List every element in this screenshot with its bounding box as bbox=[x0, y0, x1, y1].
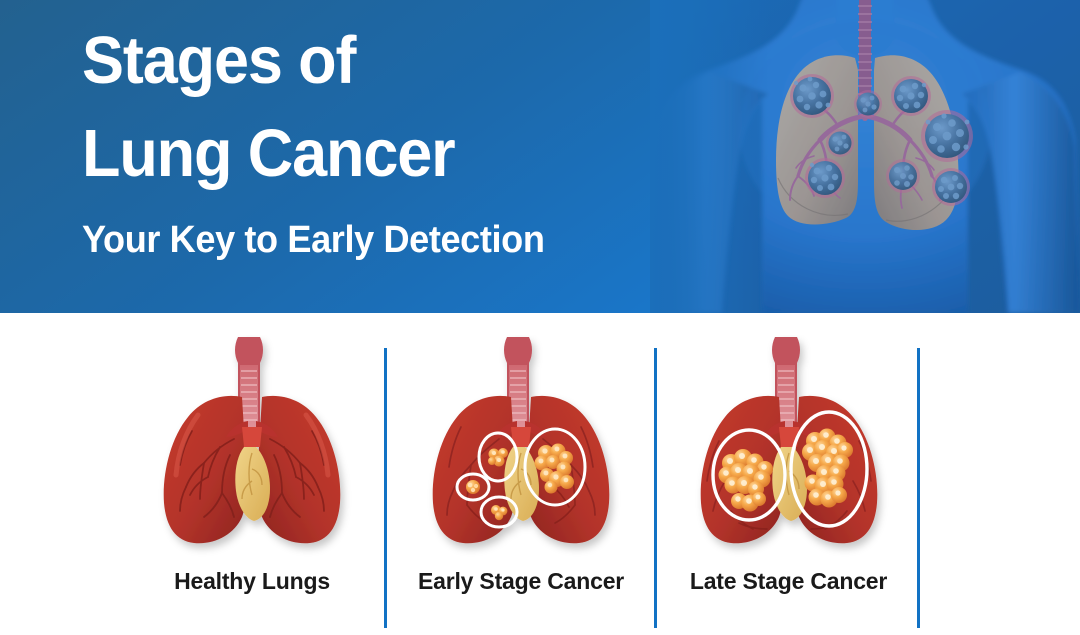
page-title-line-2: Lung Cancer bbox=[82, 107, 646, 200]
header-text-block: Stages of Lung Cancer Your Key to Early … bbox=[82, 14, 682, 263]
panel-healthy-lungs[interactable]: Healthy Lungs bbox=[120, 313, 384, 635]
torso-lungs-svg bbox=[650, 0, 1080, 313]
panel-divider-2 bbox=[654, 348, 657, 628]
healthy-lungs-icon bbox=[142, 335, 362, 570]
tumor-cluster-small-1 bbox=[466, 480, 480, 494]
panel-divider-3 bbox=[917, 348, 920, 628]
panel-divider-1 bbox=[384, 348, 387, 628]
late-stage-cancer-lungs-icon bbox=[679, 335, 899, 570]
panel-label-late: Late Stage Cancer bbox=[660, 568, 917, 595]
late-stage-lungs-svg bbox=[679, 335, 899, 565]
panel-early-stage-cancer[interactable]: Early Stage Cancer bbox=[390, 313, 652, 635]
infographic-page: Stages of Lung Cancer Your Key to Early … bbox=[0, 0, 1080, 635]
stage-panels: Healthy Lungs bbox=[0, 313, 1080, 635]
header-banner: Stages of Lung Cancer Your Key to Early … bbox=[0, 0, 1080, 313]
panel-late-stage-cancer[interactable]: Late Stage Cancer bbox=[660, 313, 917, 635]
tumor-mass-right bbox=[802, 429, 853, 508]
early-stage-lungs-svg bbox=[411, 335, 631, 565]
torso-illustration bbox=[650, 0, 1080, 313]
page-subtitle: Your Key to Early Detection bbox=[82, 217, 652, 263]
page-title-line-1: Stages of bbox=[82, 14, 646, 107]
early-stage-cancer-lungs-icon bbox=[411, 335, 631, 570]
panel-label-early: Early Stage Cancer bbox=[390, 568, 652, 595]
panel-label-healthy: Healthy Lungs bbox=[120, 568, 384, 595]
healthy-lungs-svg bbox=[142, 335, 362, 565]
